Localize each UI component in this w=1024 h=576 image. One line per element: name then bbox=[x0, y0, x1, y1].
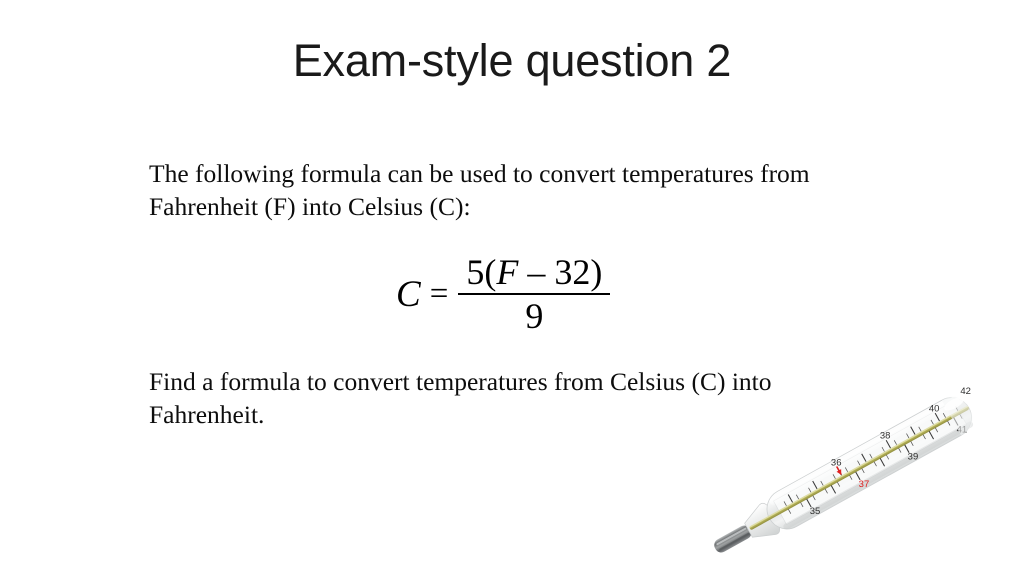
numerator-constant: 32 bbox=[554, 252, 590, 292]
thermometer-image: 35 36 37 38 39 40 41 42 bbox=[690, 374, 1010, 574]
thermometer-icon: 35 36 37 38 39 40 41 42 bbox=[690, 374, 1010, 574]
mercury-column bbox=[749, 406, 970, 531]
numerator-variable: F bbox=[496, 252, 518, 292]
svg-text:42: 42 bbox=[960, 386, 971, 397]
svg-text:40: 40 bbox=[929, 403, 940, 414]
intro-paragraph: The following formula can be used to con… bbox=[149, 157, 889, 223]
formula-numerator: 5(F – 32) bbox=[460, 254, 608, 293]
numerator-suffix: ) bbox=[590, 252, 602, 292]
formula-fraction: 5(F – 32) 9 bbox=[458, 254, 610, 335]
svg-text:36: 36 bbox=[831, 458, 842, 469]
conversion-formula: C = 5(F – 32) 9 bbox=[396, 253, 610, 335]
svg-text:39: 39 bbox=[908, 452, 919, 463]
formula-denominator: 9 bbox=[525, 295, 543, 334]
numerator-prefix: 5( bbox=[466, 252, 496, 292]
formula-equals-sign: = bbox=[430, 278, 459, 311]
svg-text:38: 38 bbox=[880, 430, 891, 441]
page-title: Exam-style question 2 bbox=[0, 36, 1024, 86]
numerator-operator: – bbox=[518, 252, 554, 292]
formula-lhs-variable: C bbox=[396, 276, 430, 313]
svg-text:35: 35 bbox=[810, 506, 821, 517]
svg-text:37: 37 bbox=[859, 479, 870, 490]
slide-canvas: Exam-style question 2 The following form… bbox=[0, 0, 1024, 576]
